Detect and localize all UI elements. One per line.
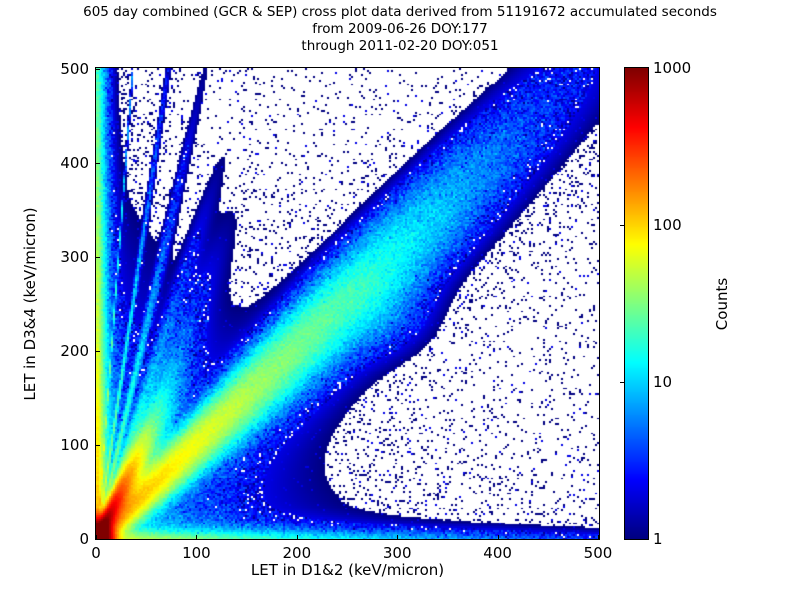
colorbar-tick-label-100: 100	[653, 216, 682, 234]
x-tick-200	[297, 535, 298, 539]
y-tick-400	[96, 163, 100, 164]
x-tick-label-500: 500	[584, 544, 613, 562]
x-tick-label-200: 200	[282, 544, 311, 562]
x-tick-label-300: 300	[383, 544, 412, 562]
x-tick-500	[598, 535, 599, 539]
colorbar-tick-100	[620, 225, 624, 226]
title-line-1: 605 day combined (GCR & SEP) cross plot …	[0, 4, 800, 21]
chart-title: 605 day combined (GCR & SEP) cross plot …	[0, 4, 800, 55]
x-tick-label-100: 100	[182, 544, 211, 562]
x-axis-label: LET in D1&2 (keV/micron)	[95, 561, 600, 579]
x-tick-400	[498, 535, 499, 539]
y-tick-label-400: 400	[47, 154, 89, 172]
y-tick-label-100: 100	[47, 436, 89, 454]
colorbar-gradient	[625, 68, 648, 539]
density-plot-layer	[96, 68, 599, 539]
plot-area	[95, 67, 600, 540]
x-tick-label-0: 0	[91, 544, 101, 562]
x-tick-label-400: 400	[483, 544, 512, 562]
x-tick-100	[196, 535, 197, 539]
y-tick-100	[96, 445, 100, 446]
y-tick-label-0: 0	[47, 530, 89, 548]
density-heatmap	[96, 68, 599, 539]
colorbar-tick-label-1: 1	[653, 530, 663, 548]
title-line-3: through 2011-02-20 DOY:051	[0, 38, 800, 55]
colorbar	[624, 67, 649, 540]
y-tick-label-200: 200	[47, 342, 89, 360]
colorbar-label: Counts	[713, 277, 731, 329]
x-tick-300	[397, 535, 398, 539]
y-tick-0	[96, 539, 100, 540]
y-tick-300	[96, 257, 100, 258]
y-tick-label-500: 500	[47, 60, 89, 78]
y-axis-label: LET in D3&4 (keV/micron)	[21, 207, 39, 400]
colorbar-tick-10	[620, 382, 624, 383]
y-tick-500	[96, 69, 100, 70]
colorbar-tick-label-10: 10	[653, 373, 672, 391]
title-line-2: from 2009-06-26 DOY:177	[0, 21, 800, 38]
colorbar-tick-label-1000: 1000	[653, 59, 691, 77]
y-tick-label-300: 300	[47, 248, 89, 266]
figure-canvas: 605 day combined (GCR & SEP) cross plot …	[0, 0, 800, 600]
y-tick-200	[96, 351, 100, 352]
